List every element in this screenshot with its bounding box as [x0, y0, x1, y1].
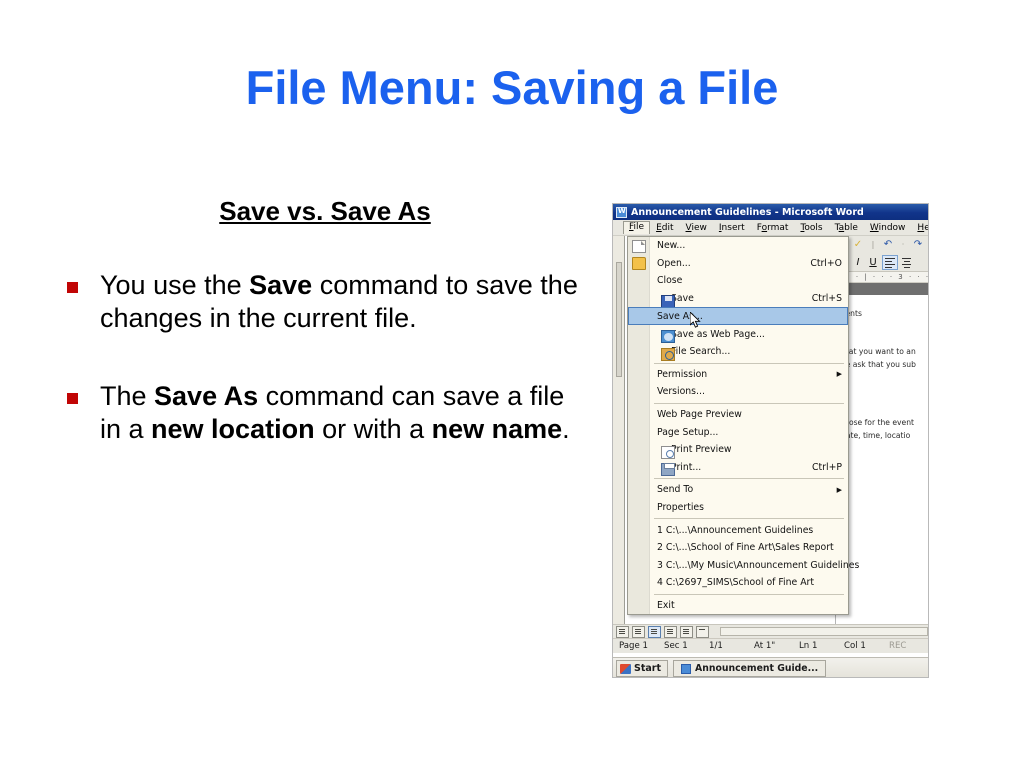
bullet-square-icon [67, 282, 78, 293]
menu-separator [654, 518, 844, 519]
menubar-item-table[interactable]: Table [829, 222, 864, 234]
word-left-strip [613, 236, 625, 624]
horizontal-ruler[interactable]: · · · | · · · 3 · · · [835, 272, 929, 283]
normal-view-button[interactable] [616, 626, 629, 638]
menu-separator [654, 363, 844, 364]
file-menu-items: New...Open...Ctrl+OCloseSaveCtrl+SSave A… [628, 237, 848, 614]
menu-item-permission[interactable]: Permission▶ [628, 366, 848, 384]
menu-item-label: Save [671, 293, 802, 304]
windows-taskbar: Start Announcement Guide... [613, 657, 928, 678]
menubar-item-help[interactable]: Help [911, 222, 929, 234]
menu-item-4-c-2697-sims-school-of-fine-art[interactable]: 4 C:\2697_SIMS\School of Fine Art [628, 574, 848, 592]
print-layout-view-button[interactable] [648, 626, 661, 638]
document-text-line: rpose for the event [841, 418, 914, 427]
menu-item-page-setup[interactable]: Page Setup... [628, 423, 848, 441]
menu-item-save-as-web-page[interactable]: Save as Web Page... [628, 325, 848, 343]
menu-item-label: Versions... [657, 386, 842, 397]
status-at-1[interactable]: At 1" [748, 641, 793, 651]
align-center-button[interactable] [901, 256, 912, 269]
menu-item-file-search[interactable]: File Search... [628, 343, 848, 361]
slide-canvas: File Menu: Saving a File Save vs. Save A… [0, 0, 1024, 768]
taskbar-item-word[interactable]: Announcement Guide... [673, 660, 826, 677]
menu-item-label: Send To [657, 484, 829, 495]
menu-item-label: Save As... [657, 311, 841, 322]
word-title-text: Announcement Guidelines - Microsoft Word [631, 207, 864, 218]
bullet-save-text: You use the Save command to save the cha… [100, 270, 578, 333]
highlight-brush-icon[interactable]: ✓ [852, 238, 864, 251]
menu-item-save[interactable]: SaveCtrl+S [628, 290, 848, 308]
printer-icon [661, 463, 675, 476]
windows-flag-icon [620, 664, 631, 674]
scroll-left-button[interactable] [696, 626, 709, 638]
subheading-text: Save vs. Save As [219, 196, 431, 226]
word-screenshot: Announcement Guidelines - Microsoft Word… [612, 203, 929, 678]
save-web-page-icon [661, 330, 675, 343]
new-document-icon [632, 240, 646, 253]
menu-item-2-c-school-of-fine-art-sales-report[interactable]: 2 C:\...\School of Fine Art\Sales Report [628, 539, 848, 557]
word-document-icon [616, 207, 627, 218]
menu-item-label: Web Page Preview [657, 409, 842, 420]
web-layout-view-button[interactable] [632, 626, 645, 638]
menu-item-send-to[interactable]: Send To▶ [628, 481, 848, 499]
menubar-item-edit[interactable]: Edit [650, 222, 679, 234]
status-1-1[interactable]: 1/1 [703, 641, 748, 651]
menu-item-versions[interactable]: Versions... [628, 383, 848, 401]
start-button-label: Start [634, 663, 661, 674]
redo-dropdown-icon[interactable]: · [927, 238, 929, 251]
word-document-icon-small [681, 664, 691, 674]
bullet-list: You use the Save command to save the cha… [58, 269, 578, 447]
italic-button[interactable]: I [852, 257, 864, 268]
menu-item-exit[interactable]: Exit [628, 597, 848, 615]
menu-item-label: Close [657, 275, 842, 286]
subheading: Save vs. Save As [58, 196, 578, 227]
menu-item-shortcut: Ctrl+O [810, 258, 842, 269]
print-preview-icon [661, 446, 675, 459]
menubar-item-tools[interactable]: Tools [794, 222, 828, 234]
taskbar-item-label: Announcement Guide... [695, 663, 818, 674]
menubar-item-insert[interactable]: Insert [713, 222, 751, 234]
menu-item-label: Open... [657, 258, 800, 269]
word-status-bar: Page 1Sec 11/1At 1"Ln 1Col 1REC [613, 638, 928, 653]
menu-item-web-page-preview[interactable]: Web Page Preview [628, 406, 848, 424]
menu-item-close[interactable]: Close [628, 272, 848, 290]
document-text-line: date, time, locatio [841, 431, 910, 440]
menu-item-label: 4 C:\2697_SIMS\School of Fine Art [657, 577, 842, 588]
word-menubar: FileEditViewInsertFormatToolsTableWindow… [613, 220, 928, 236]
menu-item-label: Print Preview [671, 444, 842, 455]
status-col-1[interactable]: Col 1 [838, 641, 883, 651]
menu-item-shortcut: Ctrl+S [812, 293, 842, 304]
menu-item-label: Page Setup... [657, 427, 842, 438]
undo-dropdown-icon[interactable]: · [897, 238, 909, 251]
toolbar-separator: | [867, 238, 879, 251]
bullet-save-as: The Save As command can save a file in a… [58, 380, 578, 447]
bullet-square-icon [67, 393, 78, 404]
menu-item-3-c-my-music-announcement-guidelines[interactable]: 3 C:\...\My Music\Announcement Guideline… [628, 557, 848, 575]
menu-item-shortcut: Ctrl+P [812, 462, 842, 473]
file-search-icon [661, 348, 675, 361]
document-text-line: Ve ask that you sub [841, 360, 916, 369]
menu-item-label: Exit [657, 600, 842, 611]
content-column: Save vs. Save As You use the Save comman… [58, 196, 578, 491]
menu-item-open[interactable]: Open...Ctrl+O [628, 255, 848, 273]
bullet-save-as-text: The Save As command can save a file in a… [100, 381, 570, 444]
menu-separator [654, 478, 844, 479]
word-titlebar: Announcement Guidelines - Microsoft Word [613, 204, 928, 220]
submenu-arrow-icon: ▶ [837, 370, 842, 378]
reading-layout-view-button[interactable] [680, 626, 693, 638]
toolbar-row-standard: █ ✓ | ↶ · ↷ · [837, 238, 929, 251]
underline-button[interactable]: U [867, 257, 879, 268]
menu-item-print[interactable]: Print...Ctrl+P [628, 459, 848, 477]
menu-item-label: Permission [657, 369, 829, 380]
menu-item-label: 3 C:\...\My Music\Announcement Guideline… [657, 560, 859, 571]
document-top-margin-area [835, 283, 929, 295]
menu-item-new[interactable]: New... [628, 237, 848, 255]
menu-item-print-preview[interactable]: Print Preview [628, 441, 848, 459]
view-buttons-bar [613, 624, 928, 638]
status-sec-1[interactable]: Sec 1 [658, 641, 703, 651]
start-button[interactable]: Start [616, 660, 668, 677]
menu-item-properties[interactable]: Properties [628, 499, 848, 517]
document-page[interactable]: ventsthat you want to anVe ask that you … [835, 295, 929, 624]
word-formatting-toolbar: █ ✓ | ↶ · ↷ · B I U [835, 236, 929, 272]
menubar-item-format[interactable]: Format [751, 222, 795, 234]
menu-item-label: File Search... [671, 346, 842, 357]
menu-item-label: Save as Web Page... [671, 329, 842, 340]
align-left-button[interactable] [882, 255, 898, 270]
status-ln-1[interactable]: Ln 1 [793, 641, 838, 651]
menu-item-label: Properties [657, 502, 842, 513]
page-title: File Menu: Saving a File [0, 62, 1024, 114]
bullet-save: You use the Save command to save the cha… [58, 269, 578, 336]
menu-item-label: 1 C:\...\Announcement Guidelines [657, 525, 842, 536]
horizontal-scrollbar[interactable] [720, 627, 928, 636]
redo-icon[interactable]: ↷ [912, 238, 924, 251]
menu-separator [654, 403, 844, 404]
menubar-item-window[interactable]: Window [864, 222, 912, 234]
word-left-scrollthumb[interactable] [616, 262, 622, 377]
save-floppy-icon [661, 295, 675, 308]
status-rec[interactable]: REC [883, 641, 928, 651]
menu-separator [654, 594, 844, 595]
menu-item-label: 2 C:\...\School of Fine Art\Sales Report [657, 542, 842, 553]
document-text-line: that you want to an [841, 347, 916, 356]
undo-icon[interactable]: ↶ [882, 238, 894, 251]
menu-item-1-c-announcement-guidelines[interactable]: 1 C:\...\Announcement Guidelines [628, 521, 848, 539]
open-folder-icon [632, 257, 646, 270]
status-page-1[interactable]: Page 1 [613, 641, 658, 651]
menu-item-label: New... [657, 240, 842, 251]
outline-view-button[interactable] [664, 626, 677, 638]
menu-item-save-as[interactable]: Save As... [628, 307, 848, 325]
file-dropdown-menu[interactable]: New...Open...Ctrl+OCloseSaveCtrl+SSave A… [627, 236, 849, 615]
menubar-item-view[interactable]: View [680, 222, 713, 234]
menu-item-label: Print... [671, 462, 802, 473]
menubar-item-file[interactable]: File [623, 221, 650, 234]
submenu-arrow-icon: ▶ [837, 486, 842, 494]
